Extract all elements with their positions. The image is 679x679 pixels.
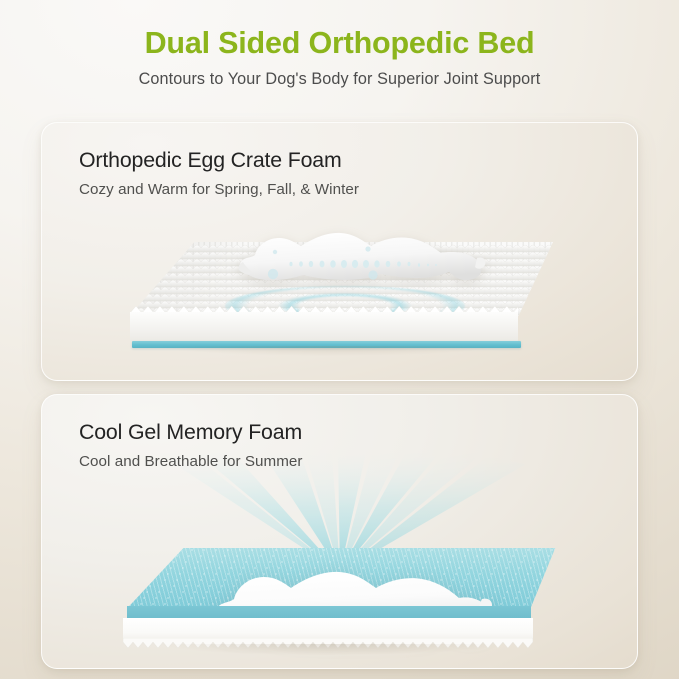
page-header: Dual Sided Orthopedic Bed Contours to Yo… xyxy=(0,0,679,89)
egg-crate-front-face xyxy=(130,312,519,341)
card-1-text-block: Orthopedic Egg Crate Foam Cozy and Warm … xyxy=(42,123,637,198)
card-orthopedic-egg-crate-foam: Orthopedic Egg Crate Foam Cozy and Warm … xyxy=(41,122,638,381)
card-1-illustration xyxy=(42,195,637,380)
card-2-illustration xyxy=(42,448,637,668)
card-2-title: Cool Gel Memory Foam xyxy=(79,420,637,445)
card-2-text-block: Cool Gel Memory Foam Cool and Breathable… xyxy=(42,395,637,470)
page-title: Dual Sided Orthopedic Bed xyxy=(0,26,679,61)
slab-ground-shadow xyxy=(134,346,523,360)
egg-crate-foam-slab xyxy=(121,242,553,358)
card-1-title: Orthopedic Egg Crate Foam xyxy=(79,148,637,173)
page-subtitle: Contours to Your Dog's Body for Superior… xyxy=(0,70,679,89)
cool-gel-foam-slab xyxy=(114,534,562,654)
card-2-subtitle: Cool and Breathable for Summer xyxy=(79,453,637,470)
dog-silhouette-icon xyxy=(233,220,491,302)
card-cool-gel-memory-foam: Cool Gel Memory Foam Cool and Breathable… xyxy=(41,394,638,669)
feature-cards: Orthopedic Egg Crate Foam Cozy and Warm … xyxy=(41,122,638,669)
slab-ground-shadow xyxy=(127,644,530,660)
card-1-subtitle: Cozy and Warm for Spring, Fall, & Winter xyxy=(79,181,637,198)
